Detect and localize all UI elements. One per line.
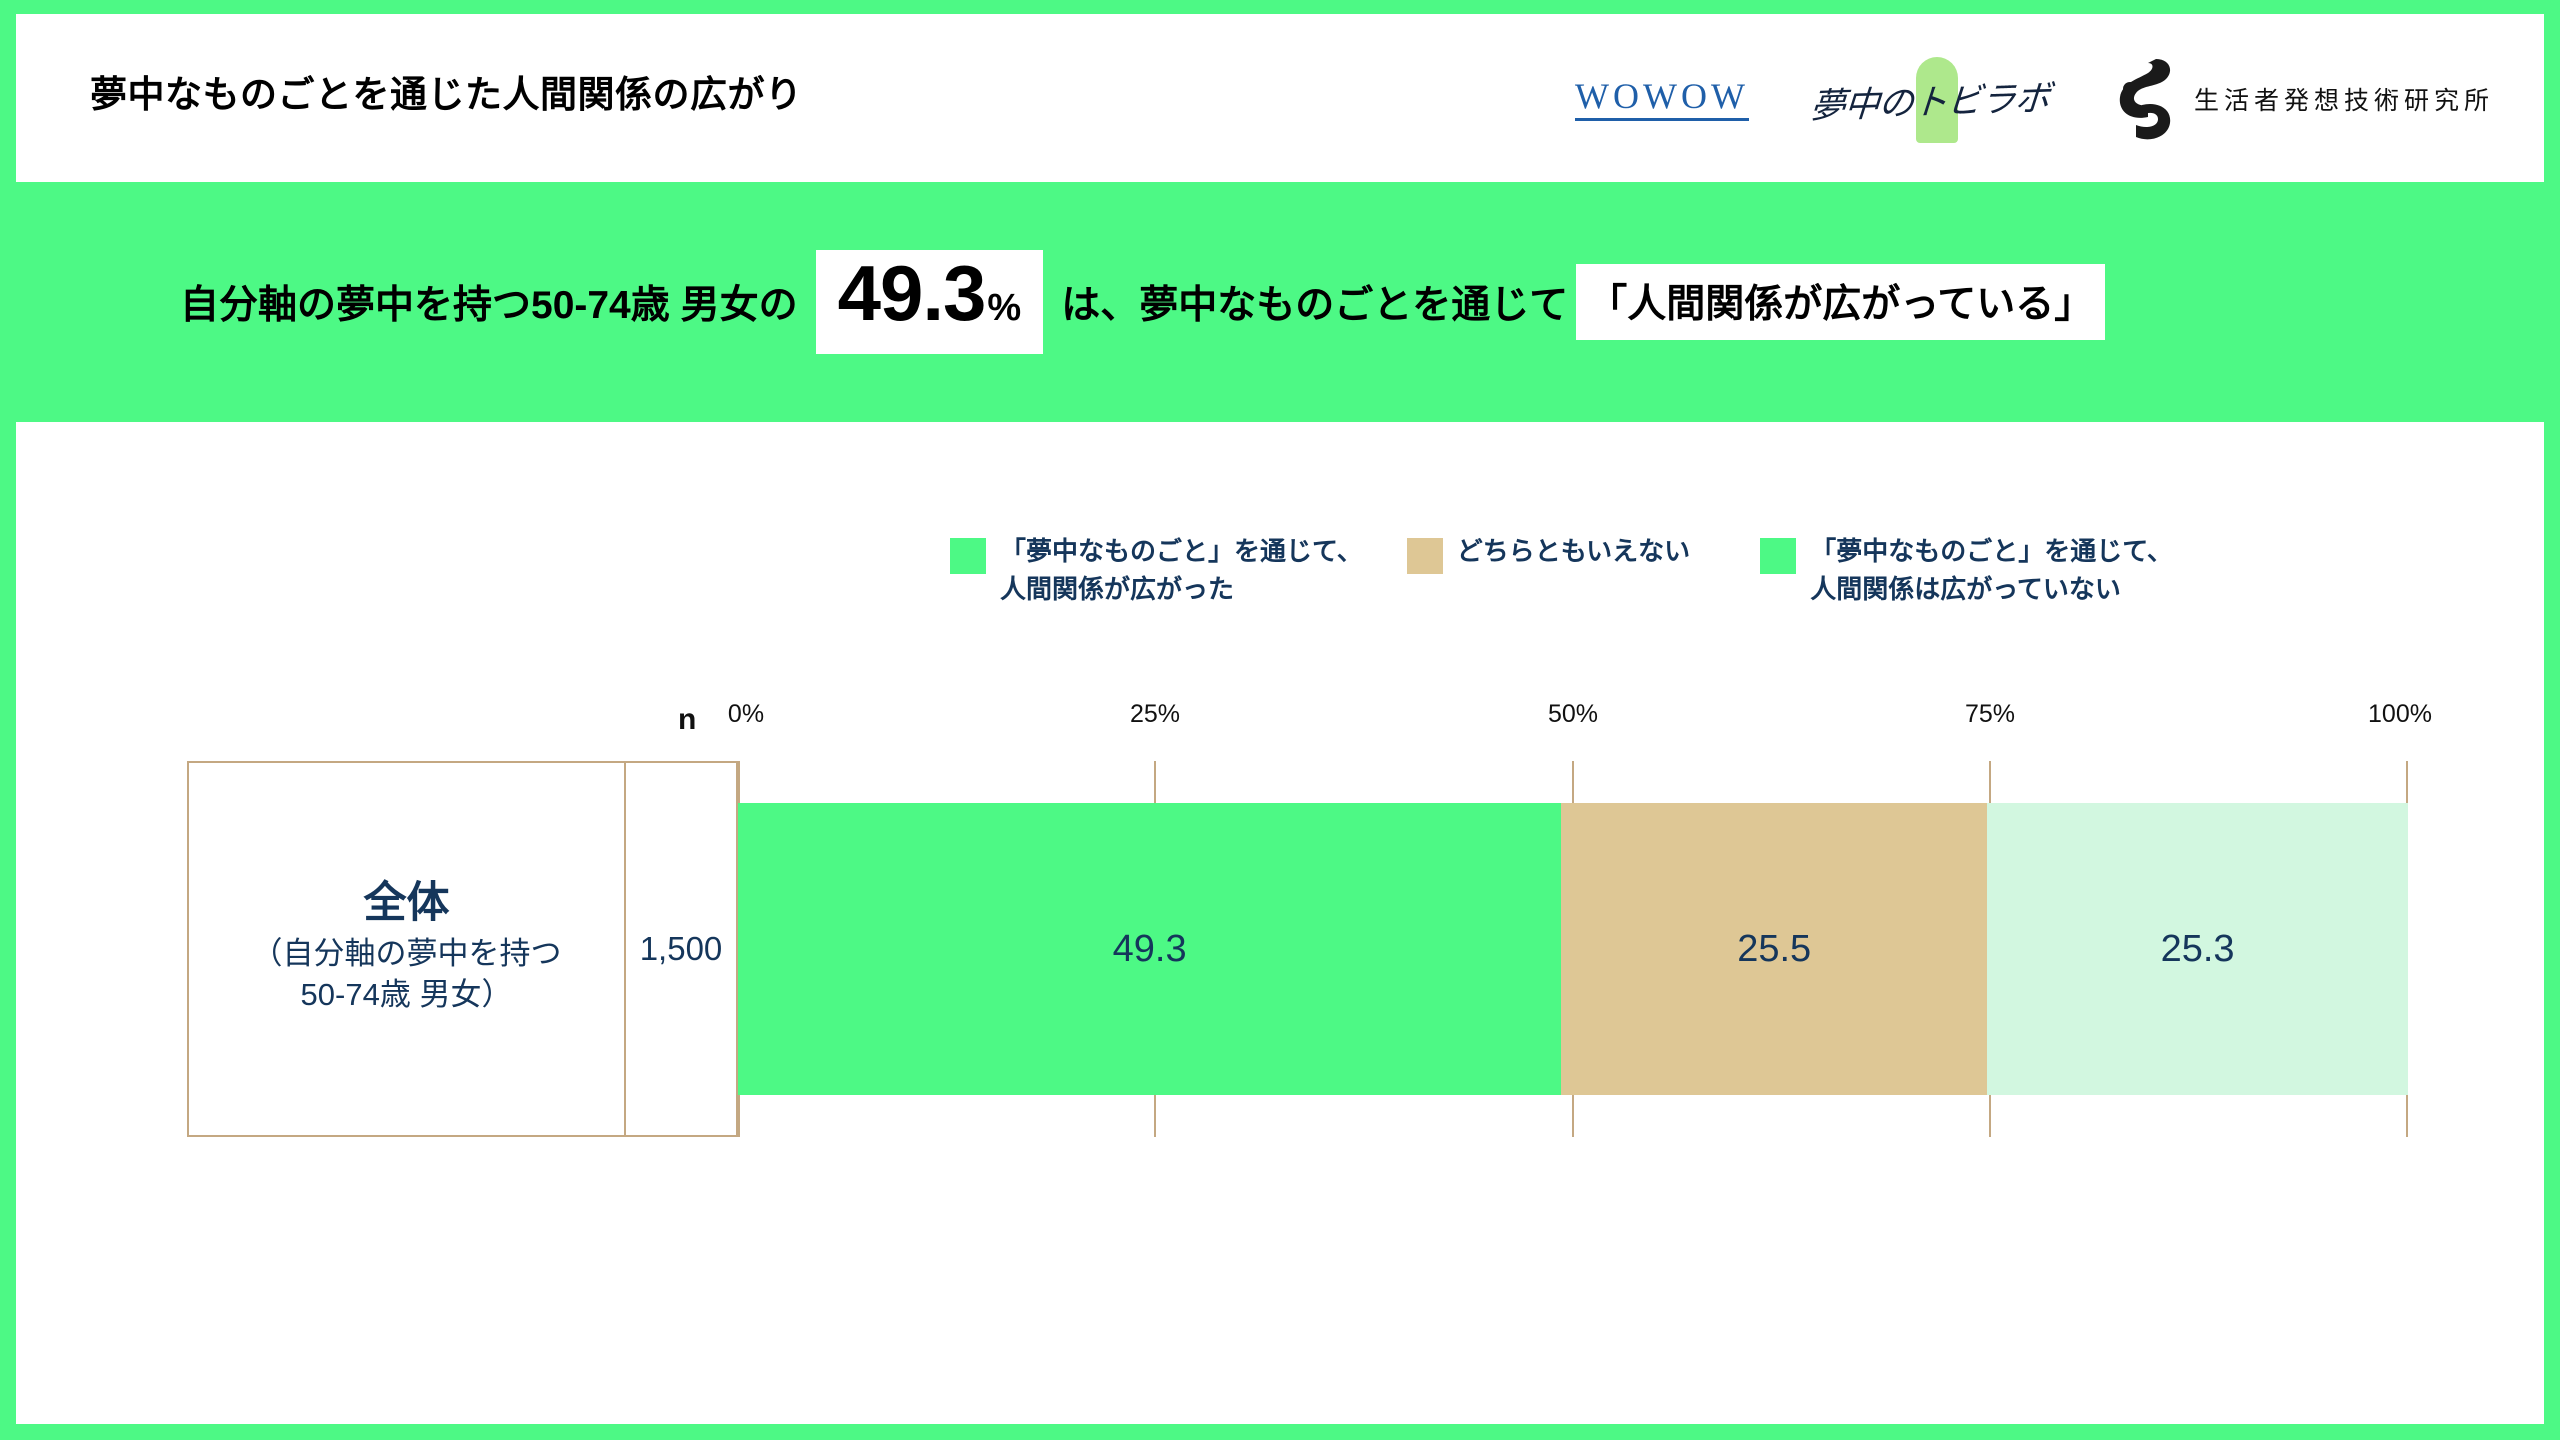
bar-value-neutral: 25.5 xyxy=(1737,928,1811,971)
page-root: 夢中なものごとを通じた人間関係の広がり WOWOW 夢中のトビラボ 生活者発想技… xyxy=(0,0,2560,1440)
axis-tick-25: 25% xyxy=(1130,700,1180,729)
axis-tick-100: 100% xyxy=(2368,700,2432,729)
statement-lead-text: 自分軸の夢中を持つ50-74歳 男女の xyxy=(180,274,798,330)
bar-segment-expanded[interactable]: 49.3 xyxy=(738,803,1561,1095)
category-main-label: 全体 xyxy=(364,878,450,930)
chart-row-table: 全体 （自分軸の夢中を持つ 50-74歳 男女） 1,500 xyxy=(187,761,738,1137)
bar-segment-neutral[interactable]: 25.5 xyxy=(1561,803,1987,1095)
legend-swatch-neutral xyxy=(1407,538,1443,574)
statement-figure-value: 49.3 xyxy=(838,254,986,332)
hakuhodo-institute-name: 生活者発想技術研究所 xyxy=(2194,81,2494,117)
logo-strip: WOWOW 夢中のトビラボ 生活者発想技術研究所 xyxy=(1575,54,2494,144)
chart-legend: 「夢中なものごと」を通じて、 人間関係が広がった どちらともいえない 「夢中なも… xyxy=(950,533,2173,608)
hakuhodo-mark-icon xyxy=(2112,55,2178,143)
header-card: 夢中なものごとを通じた人間関係の広がり WOWOW 夢中のトビラボ 生活者発想技… xyxy=(16,14,2544,182)
axis-tick-50: 50% xyxy=(1548,700,1598,729)
axis-tick-0: 0% xyxy=(728,700,764,729)
statement-band: 自分軸の夢中を持つ50-74歳 男女の 49.3 % は、夢中なものごとを通じて… xyxy=(0,182,2560,422)
legend-label-not-expanded: 「夢中なものごと」を通じて、 人間関係は広がっていない xyxy=(1810,533,2173,608)
n-value: 1,500 xyxy=(640,930,723,968)
category-cell: 全体 （自分軸の夢中を持つ 50-74歳 男女） xyxy=(189,763,626,1135)
muchu-no-tobira-lab-logo: 夢中のトビラボ xyxy=(1783,55,2078,143)
legend-item-neutral: どちらともいえない xyxy=(1407,533,1690,574)
statement-figure-highlight: 49.3 % xyxy=(816,250,1044,354)
wowow-logo: WOWOW xyxy=(1575,78,1749,121)
legend-label-neutral: どちらともいえない xyxy=(1457,533,1690,571)
chart-plot-area: 49.3 25.5 25.3 xyxy=(738,761,2408,1137)
axis-tick-75: 75% xyxy=(1965,700,2015,729)
legend-item-expanded: 「夢中なものごと」を通じて、 人間関係が広がった xyxy=(950,533,1363,608)
bar-segment-not-expanded[interactable]: 25.3 xyxy=(1987,803,2408,1095)
hakuhodo-institute-logo: 生活者発想技術研究所 xyxy=(2112,55,2494,143)
muchu-no-tobira-lab-wordmark: 夢中のトビラボ xyxy=(1809,69,2051,128)
n-cell: 1,500 xyxy=(626,763,736,1135)
statement-line: 自分軸の夢中を持つ50-74歳 男女の 49.3 % は、夢中なものごとを通じて… xyxy=(180,182,2105,422)
statement-figure-percent: % xyxy=(987,289,1021,327)
chart-axis-labels: 0% 25% 50% 75% 100% xyxy=(0,700,2560,740)
stacked-bar: 49.3 25.5 25.3 xyxy=(738,803,2408,1095)
page-title: 夢中なものごとを通じた人間関係の広がり xyxy=(90,64,803,118)
legend-label-expanded: 「夢中なものごと」を通じて、 人間関係が広がった xyxy=(1000,533,1363,608)
statement-middle-text: は、夢中なものごとを通じて xyxy=(1061,274,1568,330)
statement-quote-highlight: 「人間関係が広がっている」 xyxy=(1576,264,2105,340)
category-sub-label: （自分軸の夢中を持つ 50-74歳 男女） xyxy=(252,934,562,1016)
legend-item-not-expanded: 「夢中なものごと」を通じて、 人間関係は広がっていない xyxy=(1760,533,2173,608)
bar-value-expanded: 49.3 xyxy=(1113,928,1187,971)
legend-swatch-expanded xyxy=(950,538,986,574)
statement-quote-text: 「人間関係が広がっている」 xyxy=(1588,273,2093,329)
bar-value-not-expanded: 25.3 xyxy=(2161,928,2235,971)
legend-swatch-not-expanded xyxy=(1760,538,1796,574)
